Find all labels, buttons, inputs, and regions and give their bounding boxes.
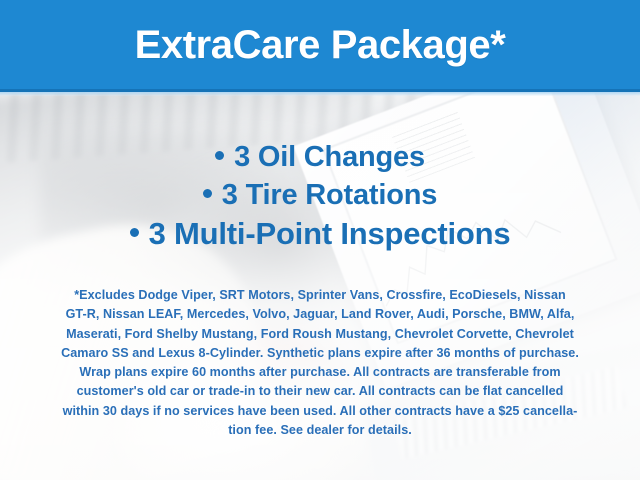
extracare-promo-card: ExtraCare Package* 3 Oil Changes 3 Tire … bbox=[0, 0, 640, 480]
disclaimer-line: Maserati, Ford Shelby Mustang, Ford Rous… bbox=[18, 325, 622, 344]
list-item: 3 Tire Rotations bbox=[0, 176, 640, 214]
disclaimer-text: *Excludes Dodge Viper, SRT Motors, Sprin… bbox=[18, 286, 622, 440]
page-title: ExtraCare Package* bbox=[135, 25, 506, 65]
disclaimer-line: tion fee. See dealer for details. bbox=[18, 421, 622, 440]
disclaimer-line: within 30 days if no services have been … bbox=[18, 402, 622, 421]
benefits-list: 3 Oil Changes 3 Tire Rotations 3 Multi-P… bbox=[0, 138, 640, 254]
header-band: ExtraCare Package* bbox=[0, 0, 640, 92]
list-item-label: 3 Multi-Point Inspections bbox=[149, 216, 511, 251]
header-band-sheen bbox=[0, 92, 640, 96]
disclaimer-line: customer's old car or trade-in to their … bbox=[18, 382, 622, 401]
bullet-dot-icon bbox=[130, 228, 139, 237]
disclaimer-line: Camaro SS and Lexus 8-Cylinder. Syntheti… bbox=[18, 344, 622, 363]
bullet-dot-icon bbox=[203, 189, 212, 198]
disclaimer-line: *Excludes Dodge Viper, SRT Motors, Sprin… bbox=[18, 286, 622, 305]
list-item: 3 Oil Changes bbox=[0, 138, 640, 176]
list-item-label: 3 Oil Changes bbox=[234, 141, 425, 173]
list-item-label: 3 Tire Rotations bbox=[222, 179, 437, 211]
bullet-dot-icon bbox=[215, 151, 224, 160]
list-item: 3 Multi-Point Inspections bbox=[0, 214, 640, 254]
disclaimer-line: GT-R, Nissan LEAF, Mercedes, Volvo, Jagu… bbox=[18, 305, 622, 324]
disclaimer-line: Wrap plans expire 60 months after purcha… bbox=[18, 363, 622, 382]
